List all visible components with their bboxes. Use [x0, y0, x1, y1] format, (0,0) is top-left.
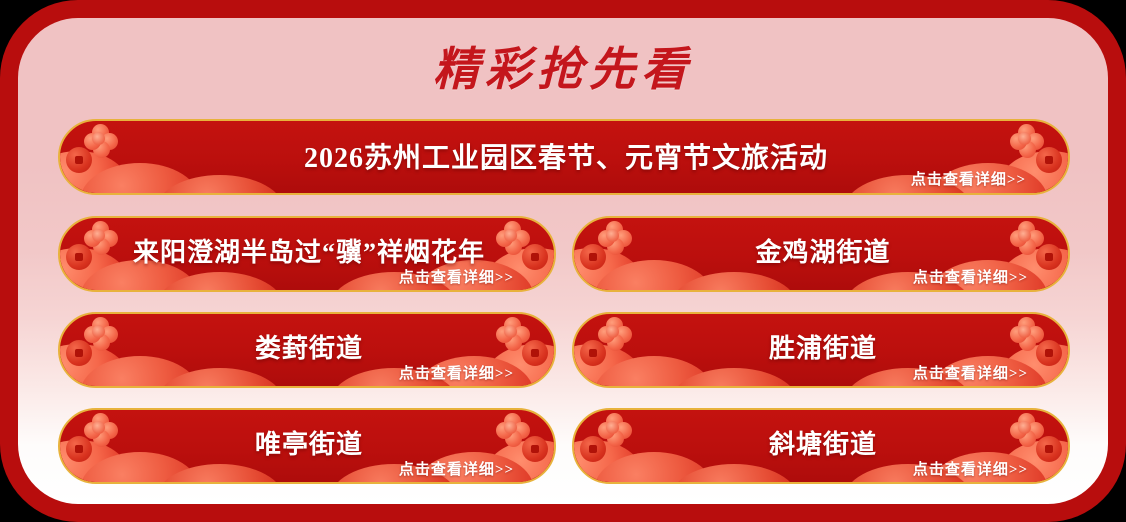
banner-cta[interactable]: 点击查看详细>>: [399, 266, 514, 287]
banner-title: 金鸡湖街道: [574, 232, 1070, 269]
page-title: 精彩抢先看: [18, 42, 1108, 98]
banner-link-1[interactable]: 来阳澄湖半岛过“骥”祥烟花年 点击查看详细>>: [58, 216, 556, 292]
banner-link-4[interactable]: 胜浦街道 点击查看详细>>: [572, 312, 1070, 388]
banner-cta[interactable]: 点击查看详细>>: [399, 362, 514, 383]
banner-link-0[interactable]: 2026苏州工业园区春节、元宵节文旅活动 点击查看详细>>: [58, 119, 1070, 195]
poster-frame: 精彩抢先看 2026苏州工业园区春节、元宵节文旅活动 点击查看详细>>: [0, 0, 1126, 522]
poster-panel: 精彩抢先看 2026苏州工业园区春节、元宵节文旅活动 点击查看详细>>: [18, 18, 1108, 504]
banner-title: 娄葑街道: [60, 328, 556, 365]
poster: 精彩抢先看 2026苏州工业园区春节、元宵节文旅活动 点击查看详细>>: [0, 0, 1126, 522]
banner-link-5[interactable]: 唯亭街道 点击查看详细>>: [58, 408, 556, 484]
banner-title: 斜塘街道: [574, 424, 1070, 461]
banner-cta[interactable]: 点击查看详细>>: [913, 458, 1028, 479]
banner-title: 胜浦街道: [574, 328, 1070, 365]
banner-cta[interactable]: 点击查看详细>>: [913, 362, 1028, 383]
banner-title: 唯亭街道: [60, 424, 556, 461]
banner-cta[interactable]: 点击查看详细>>: [913, 266, 1028, 287]
banner-cta[interactable]: 点击查看详细>>: [399, 458, 514, 479]
banner-link-3[interactable]: 娄葑街道 点击查看详细>>: [58, 312, 556, 388]
banner-cta[interactable]: 点击查看详细>>: [911, 168, 1026, 189]
banner-title: 来阳澄湖半岛过“骥”祥烟花年: [60, 232, 556, 269]
banner-link-2[interactable]: 金鸡湖街道 点击查看详细>>: [572, 216, 1070, 292]
banner-link-6[interactable]: 斜塘街道 点击查看详细>>: [572, 408, 1070, 484]
